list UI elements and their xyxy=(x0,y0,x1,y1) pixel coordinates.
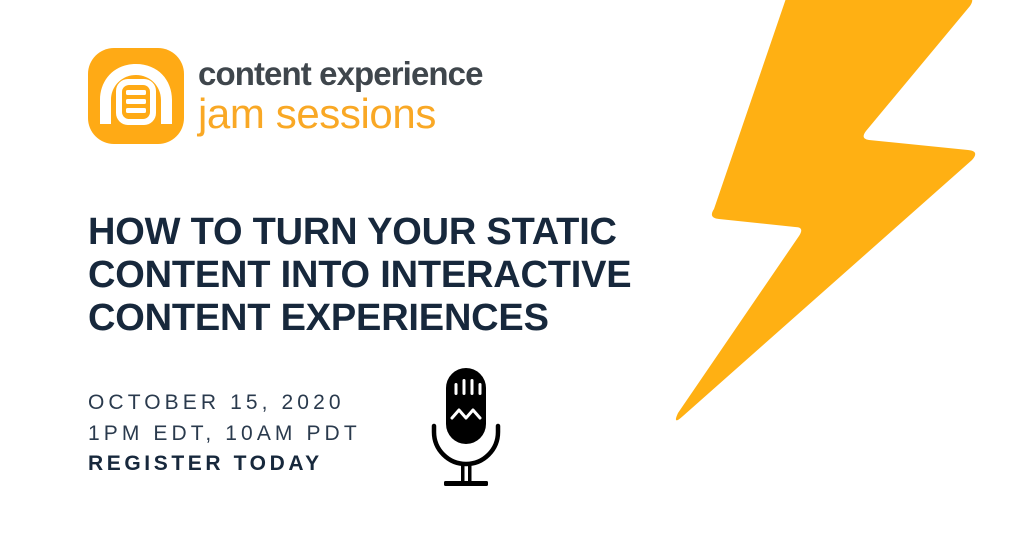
content-column: content experience jam sessions HOW TO T… xyxy=(88,0,688,538)
headline-line-1: HOW TO TURN YOUR STATIC xyxy=(88,211,668,254)
event-details: OCTOBER 15, 2020 1PM EDT, 10AM PDT REGIS… xyxy=(88,388,361,480)
brand-name-line2: jam sessions xyxy=(198,93,483,135)
microphone-icon xyxy=(428,366,504,490)
page-title: HOW TO TURN YOUR STATIC CONTENT INTO INT… xyxy=(88,211,668,339)
brand-name-line1: content experience xyxy=(198,57,483,90)
event-date: OCTOBER 15, 2020 xyxy=(88,388,361,419)
webinar-promo-poster: content experience jam sessions HOW TO T… xyxy=(0,0,1024,538)
event-time: 1PM EDT, 10AM PDT xyxy=(88,419,361,450)
brand-logo: content experience jam sessions xyxy=(88,48,483,144)
brand-wordmark: content experience jam sessions xyxy=(198,57,483,135)
headline-line-3: CONTENT EXPERIENCES xyxy=(88,297,668,340)
register-cta[interactable]: REGISTER TODAY xyxy=(88,449,361,480)
headline-line-2: CONTENT INTO INTERACTIVE xyxy=(88,254,668,297)
content-experience-jam-sessions-logo-mark xyxy=(88,48,184,144)
